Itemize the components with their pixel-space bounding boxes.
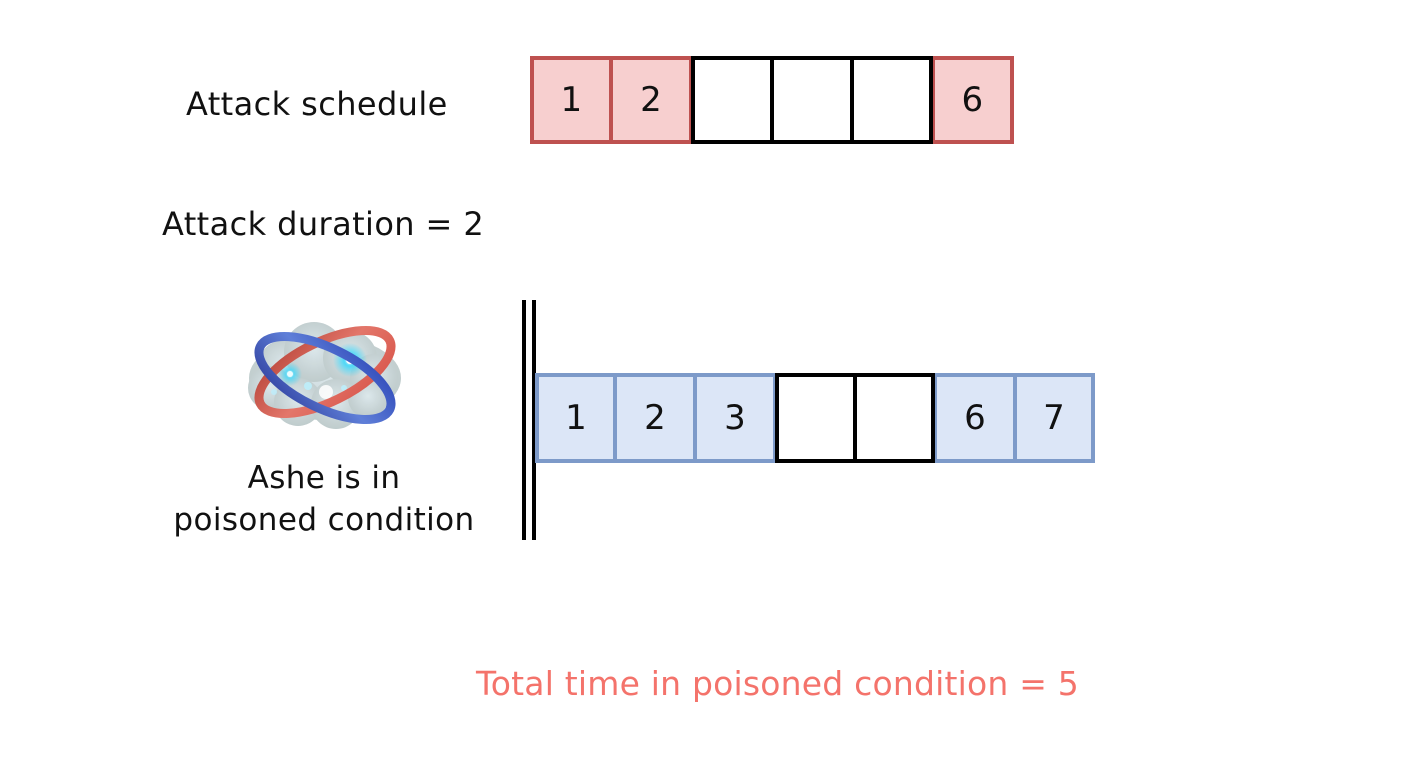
poison-cloud-glyph <box>232 300 418 450</box>
attack-duration-label: Attack duration = 2 <box>162 204 484 245</box>
poison-cell-1[interactable]: 1 <box>535 373 615 463</box>
total-time-poisoned-label: Total time in poisoned condition = 5 <box>476 663 1079 705</box>
poison-cell-3[interactable]: 3 <box>695 373 775 463</box>
attack-cell-1[interactable]: 1 <box>530 56 611 144</box>
attack-cell-2[interactable]: 2 <box>611 56 692 144</box>
attack-schedule-label: Attack schedule <box>186 84 448 125</box>
ashe-caption-line-2: poisoned condition <box>168 499 480 541</box>
timeline-axis-line-outer <box>522 300 526 540</box>
poison-cell-4[interactable] <box>775 373 855 463</box>
poison-cloud-icon <box>232 300 418 450</box>
poison-cell-5[interactable] <box>855 373 935 463</box>
poison-cell-7[interactable]: 7 <box>1015 373 1095 463</box>
attack-cell-3[interactable] <box>691 56 772 144</box>
poison-cell-2[interactable]: 2 <box>615 373 695 463</box>
poison-cell-6[interactable]: 6 <box>935 373 1015 463</box>
diagram-canvas: Attack schedule 1 2 6 Attack duration = … <box>0 0 1402 774</box>
ashe-poisoned-caption: Ashe is in poisoned condition <box>168 457 480 542</box>
attack-cell-6[interactable]: 6 <box>933 56 1014 144</box>
attack-cell-5[interactable] <box>852 56 933 144</box>
ashe-caption-line-1: Ashe is in <box>168 457 480 499</box>
attack-cell-4[interactable] <box>772 56 853 144</box>
attack-schedule-row: 1 2 6 <box>530 56 1014 144</box>
poisoned-condition-row: 1 2 3 6 7 <box>535 373 1095 463</box>
